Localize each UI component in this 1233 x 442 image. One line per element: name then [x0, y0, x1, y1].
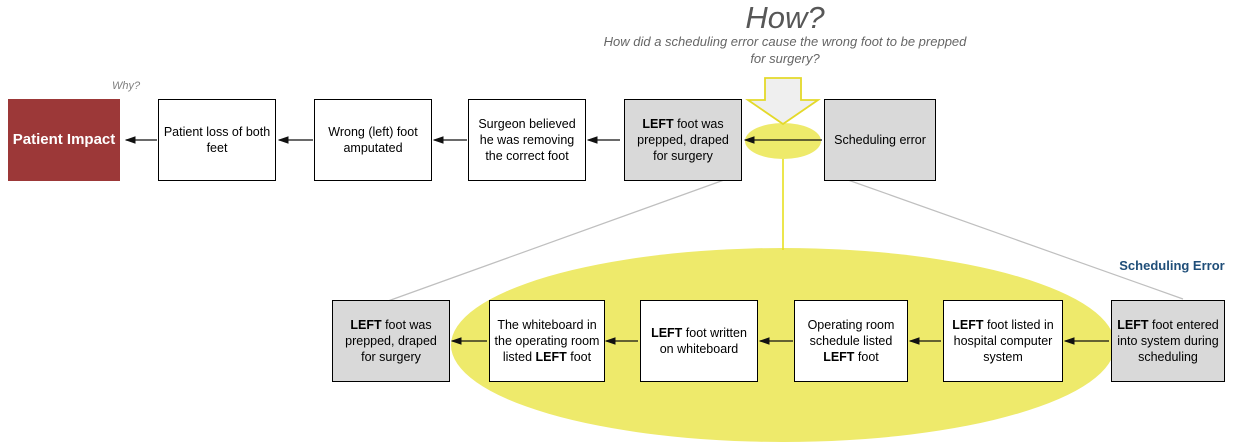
node-label: LEFT foot entered into system during sch…	[1116, 317, 1220, 365]
bold-left-token: LEFT	[350, 318, 381, 332]
node-label: Patient loss of both feet	[163, 124, 271, 156]
node-label: Patient Impact	[13, 132, 116, 148]
node-wrong-foot-amputated[interactable]: Wrong (left) foot amputated	[314, 99, 432, 181]
diagram-canvas: How? How did a scheduling error cause th…	[0, 0, 1233, 442]
highlight-ellipse-small	[745, 123, 821, 159]
node-label: LEFT foot listed in hospital computer sy…	[948, 317, 1058, 365]
why-label: Why?	[88, 80, 164, 92]
node-label-pre: Operating room schedule listed	[808, 318, 895, 348]
node-left-foot-prepped-2[interactable]: LEFT foot was prepped, draped for surger…	[332, 300, 450, 382]
node-label: Scheduling error	[834, 132, 926, 148]
node-label: Wrong (left) foot amputated	[319, 124, 427, 156]
bold-left-token: LEFT	[651, 326, 682, 340]
down-arrow-icon	[748, 78, 818, 124]
node-label-post: foot	[854, 350, 878, 364]
node-label: The whiteboard in the operating room lis…	[494, 317, 600, 365]
bold-left-token: LEFT	[536, 350, 567, 364]
bold-left-token: LEFT	[952, 318, 983, 332]
node-scheduling-error[interactable]: Scheduling error	[824, 99, 936, 181]
node-label: LEFT foot was prepped, draped for surger…	[337, 317, 445, 365]
node-patient-impact[interactable]: Patient Impact	[8, 99, 120, 181]
node-label: Surgeon believed he was removing the cor…	[473, 116, 581, 164]
node-label: LEFT foot was prepped, draped for surger…	[629, 116, 737, 164]
node-patient-loss-of-both-feet[interactable]: Patient loss of both feet	[158, 99, 276, 181]
node-or-schedule-listed[interactable]: Operating room schedule listed LEFT foot	[794, 300, 908, 382]
how-subtitle: How did a scheduling error cause the wro…	[600, 33, 970, 67]
bold-left-token: LEFT	[642, 117, 673, 131]
bold-left-token: LEFT	[823, 350, 854, 364]
node-label: Operating room schedule listed LEFT foot	[799, 317, 903, 365]
node-left-written-on-whiteboard[interactable]: LEFT foot written on whiteboard	[640, 300, 758, 382]
node-left-foot-prepped[interactable]: LEFT foot was prepped, draped for surger…	[624, 99, 742, 181]
node-listed-in-hospital-computer[interactable]: LEFT foot listed in hospital computer sy…	[943, 300, 1063, 382]
node-entered-into-system[interactable]: LEFT foot entered into system during sch…	[1111, 300, 1225, 382]
node-whiteboard-listed[interactable]: The whiteboard in the operating room lis…	[489, 300, 605, 382]
node-label: LEFT foot written on whiteboard	[645, 325, 753, 357]
scheduling-error-label: Scheduling Error	[1116, 258, 1228, 274]
node-label-post: foot	[567, 350, 591, 364]
bold-left-token: LEFT	[1117, 318, 1148, 332]
how-title: How?	[700, 0, 870, 36]
node-surgeon-believed[interactable]: Surgeon believed he was removing the cor…	[468, 99, 586, 181]
